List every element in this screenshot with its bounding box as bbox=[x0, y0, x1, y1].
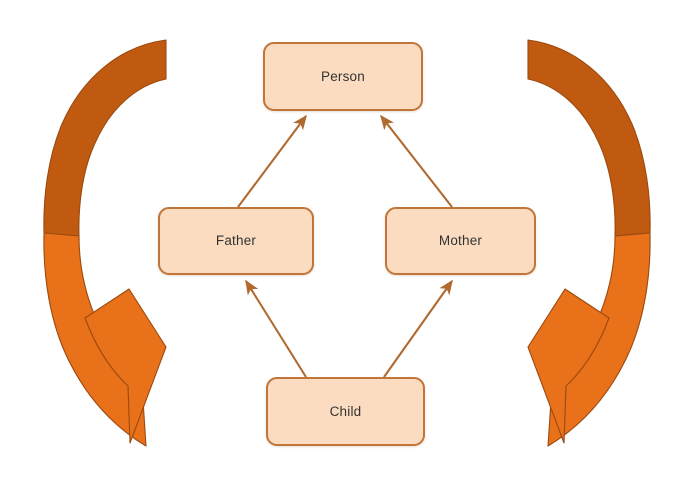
class-node-father-label: Father bbox=[216, 234, 256, 248]
class-node-person[interactable]: Person bbox=[263, 42, 423, 111]
diagram-canvas: Person Father Mother Child bbox=[0, 0, 694, 488]
class-node-father[interactable]: Father bbox=[158, 207, 314, 275]
class-node-person-label: Person bbox=[321, 70, 365, 84]
left-curved-arrow bbox=[44, 40, 166, 446]
connector-child-to-mother bbox=[384, 281, 452, 377]
connector-mother-to-person bbox=[381, 116, 452, 207]
left-curved-arrow-upper-segment bbox=[44, 40, 166, 236]
connector-father-to-person bbox=[238, 116, 306, 207]
class-node-child[interactable]: Child bbox=[266, 377, 425, 446]
right-curved-arrow bbox=[528, 40, 650, 446]
right-curved-arrow-upper-segment bbox=[528, 40, 650, 236]
class-node-child-label: Child bbox=[330, 405, 362, 419]
class-node-mother-label: Mother bbox=[439, 234, 482, 248]
connector-child-to-father bbox=[246, 281, 306, 377]
class-node-mother[interactable]: Mother bbox=[385, 207, 536, 275]
